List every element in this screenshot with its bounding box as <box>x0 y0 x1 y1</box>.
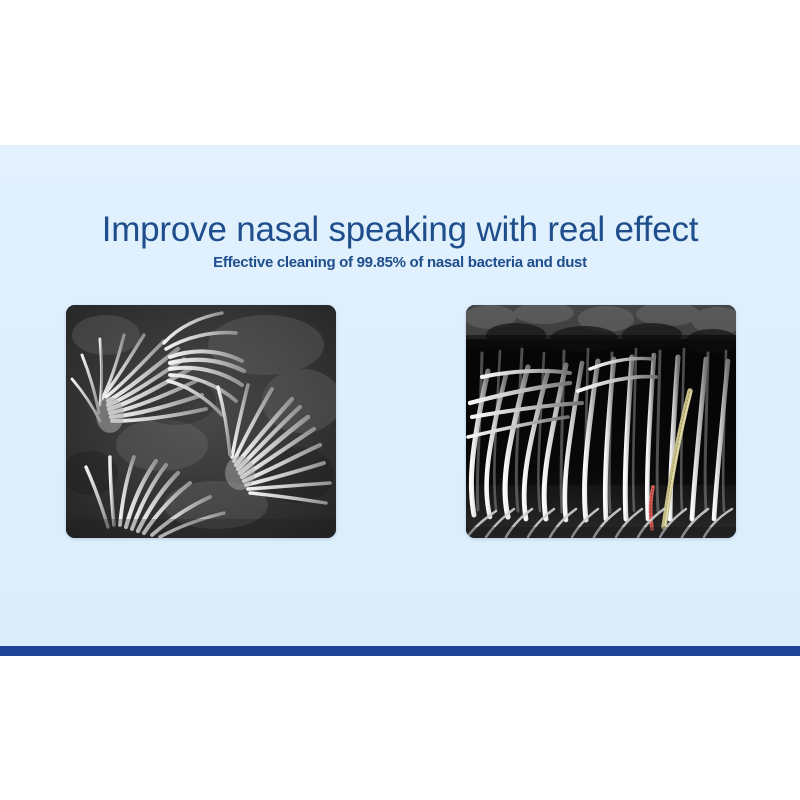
product-infographic-page: Improve nasal speaking with real effect … <box>0 0 800 800</box>
cilia-sideview-illustration <box>466 305 736 538</box>
page-title: Improve nasal speaking with real effect <box>0 209 800 251</box>
cilia-tufts-illustration <box>66 305 336 538</box>
comparison-banner: Improve nasal speaking with real effect … <box>0 145 800 646</box>
bottom-accent-bar <box>0 646 800 656</box>
sem-micrograph-nasal-cilia-washed <box>66 305 336 538</box>
sem-micrograph-nasal-cilia-unwashed <box>466 305 736 538</box>
image-card-washed-cilia <box>66 305 336 538</box>
image-card-unwashed-cilia <box>466 305 736 538</box>
page-subtitle: Effective cleaning of 99.85% of nasal ba… <box>0 253 800 273</box>
